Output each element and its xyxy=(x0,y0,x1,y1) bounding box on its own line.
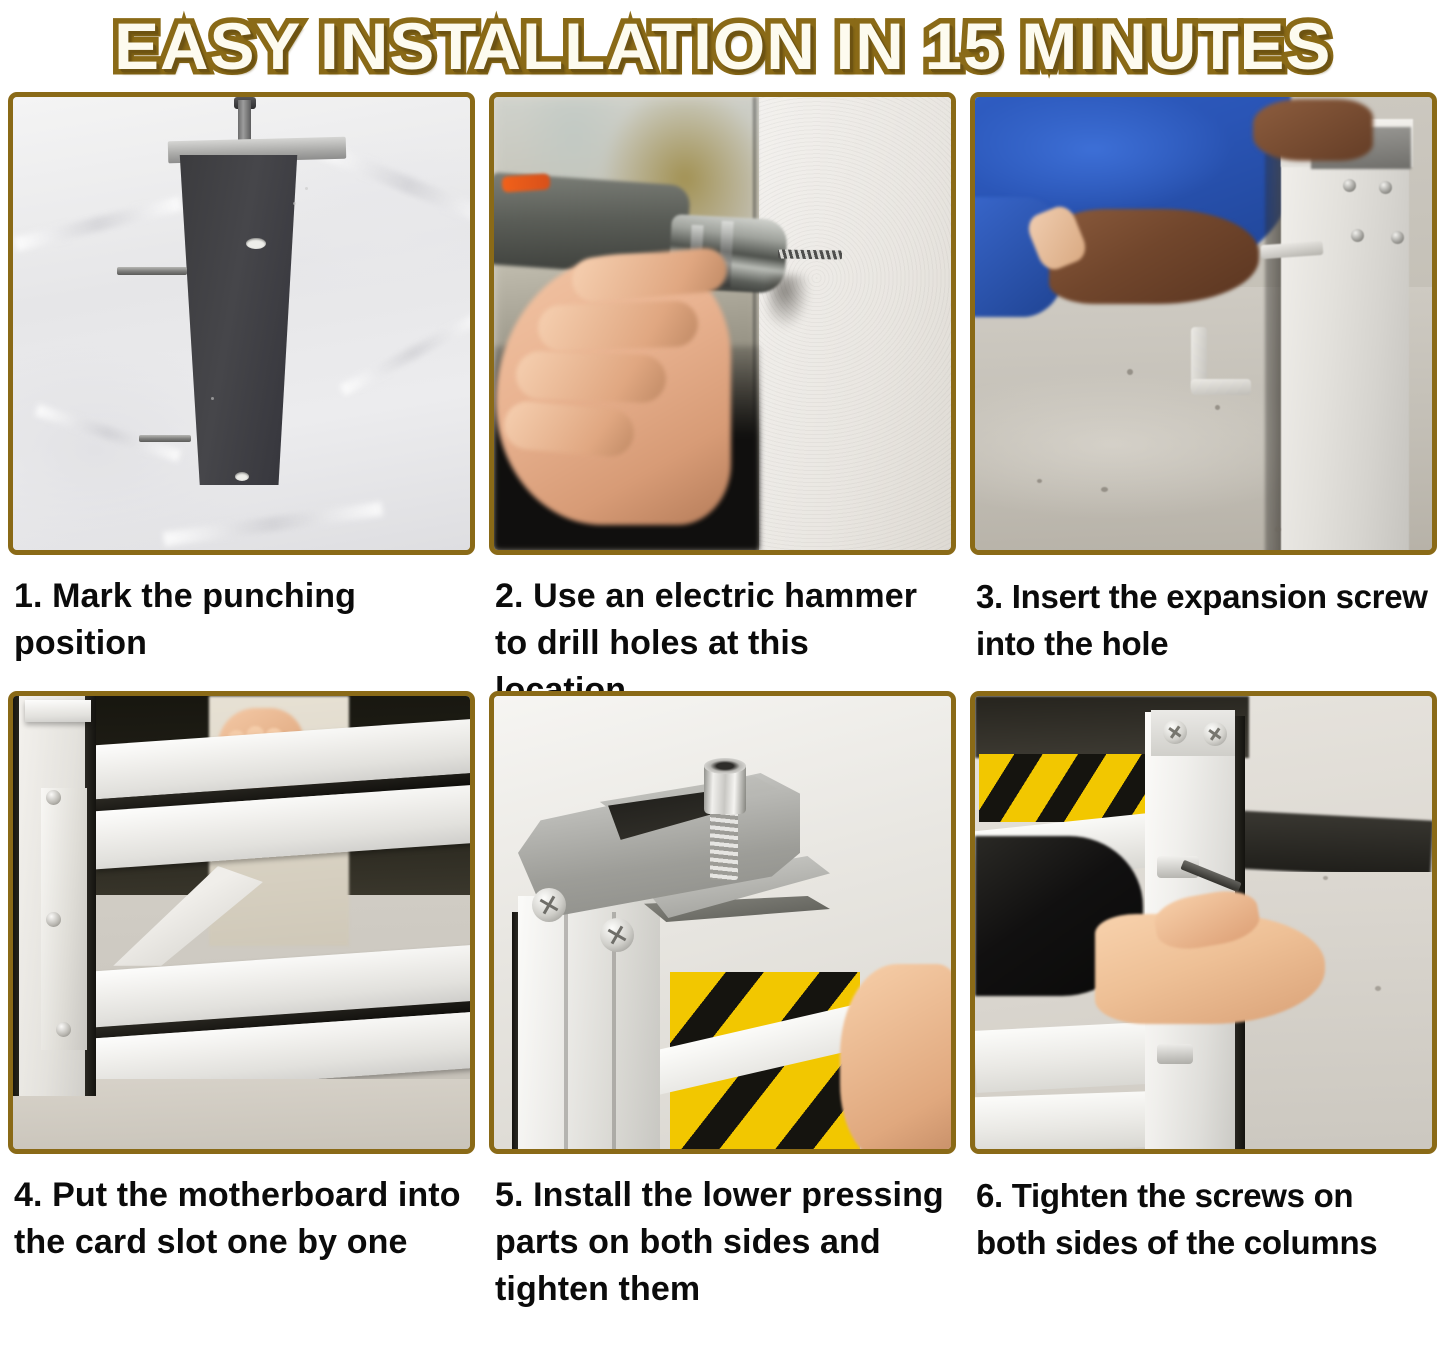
bolt-thread xyxy=(710,804,738,880)
column-screw xyxy=(1203,722,1227,746)
post-screw xyxy=(46,912,61,927)
hazard-stripes xyxy=(979,754,1145,822)
finger xyxy=(515,350,667,403)
steps-row-1: 1. Mark the punching position xyxy=(8,92,1437,683)
step-caption-2: 2. Use an electric hammer to drill holes… xyxy=(489,555,956,683)
hand xyxy=(840,964,951,1149)
floor-speck xyxy=(1275,527,1281,532)
bracket-screw xyxy=(600,918,634,952)
lower-pressing-part-photo xyxy=(489,691,956,1154)
template-hole-upper xyxy=(246,238,266,249)
step-caption-6: 6. Tighten the screws on both sides of t… xyxy=(970,1154,1437,1304)
plate-speck xyxy=(293,202,296,205)
column-screw xyxy=(1163,720,1187,744)
marking-template-photo xyxy=(8,92,475,555)
template-hole-lower xyxy=(235,472,249,481)
white-column xyxy=(518,896,660,1149)
bracket-screw xyxy=(532,888,566,922)
hex-wrench-short-arm xyxy=(1191,379,1251,395)
finger xyxy=(537,300,699,352)
floor-speck xyxy=(1375,986,1381,991)
drill-bit xyxy=(778,249,842,259)
post-screw xyxy=(46,790,61,805)
bolt-hex-socket xyxy=(704,758,746,774)
electric-hammer-drill-photo xyxy=(489,92,956,555)
floor-speck xyxy=(1323,876,1328,880)
step-card-3: 3. Insert the expansion screw into the h… xyxy=(970,92,1437,683)
steps-row-2: 4. Put the motherboard into the card slo… xyxy=(8,691,1437,1304)
tighten-column-screws-photo xyxy=(970,691,1437,1154)
step-caption-4: 4. Put the motherboard into the card slo… xyxy=(8,1154,475,1304)
column-groove xyxy=(564,912,568,1149)
template-pin-lower xyxy=(139,435,191,442)
template-bolt-shaft xyxy=(238,100,251,144)
steps-grid: 1. Mark the punching position xyxy=(0,92,1445,1304)
bracket-screw xyxy=(1379,181,1392,194)
step-card-4: 4. Put the motherboard into the card slo… xyxy=(8,691,475,1304)
post-top-cap xyxy=(25,700,91,722)
bracket-screw xyxy=(1391,231,1404,244)
bracket-screw xyxy=(1351,229,1364,242)
page-title: EASY INSTALLATION IN 15 MINUTES xyxy=(114,11,1331,81)
infographic-page: EASY INSTALLATION IN 15 MINUTES xyxy=(0,0,1445,1352)
drill-dust-shadow xyxy=(768,275,810,329)
floor-speck xyxy=(1127,369,1133,375)
drill-trigger xyxy=(502,173,551,192)
step-card-5: 5. Install the lower pressing parts on b… xyxy=(489,691,956,1304)
second-hand xyxy=(1253,99,1373,161)
step-card-1: 1. Mark the punching position xyxy=(8,92,475,683)
step-card-6: 6. Tighten the screws on both sides of t… xyxy=(970,691,1437,1304)
board xyxy=(975,1021,1166,1093)
floor-speck xyxy=(1101,487,1108,492)
plate-speck xyxy=(305,187,308,190)
board xyxy=(975,1091,1166,1149)
floor-speck xyxy=(1037,479,1042,483)
step-caption-3: 3. Insert the expansion screw into the h… xyxy=(970,555,1437,683)
step-caption-5: 5. Install the lower pressing parts on b… xyxy=(489,1154,956,1304)
floor-speck xyxy=(1215,405,1220,410)
step-caption-1: 1. Mark the punching position xyxy=(8,555,475,683)
step-card-2: 2. Use an electric hammer to drill holes… xyxy=(489,92,956,683)
expansion-screw-photo xyxy=(970,92,1437,555)
bracket-screw xyxy=(1343,179,1356,192)
title-banner: EASY INSTALLATION IN 15 MINUTES xyxy=(0,0,1445,92)
motherboard-card-slot-photo xyxy=(8,691,475,1154)
side-screw-lower xyxy=(1157,1044,1193,1064)
plate-speck xyxy=(211,397,214,400)
post-screw xyxy=(56,1022,71,1037)
template-pin-upper xyxy=(117,267,187,275)
